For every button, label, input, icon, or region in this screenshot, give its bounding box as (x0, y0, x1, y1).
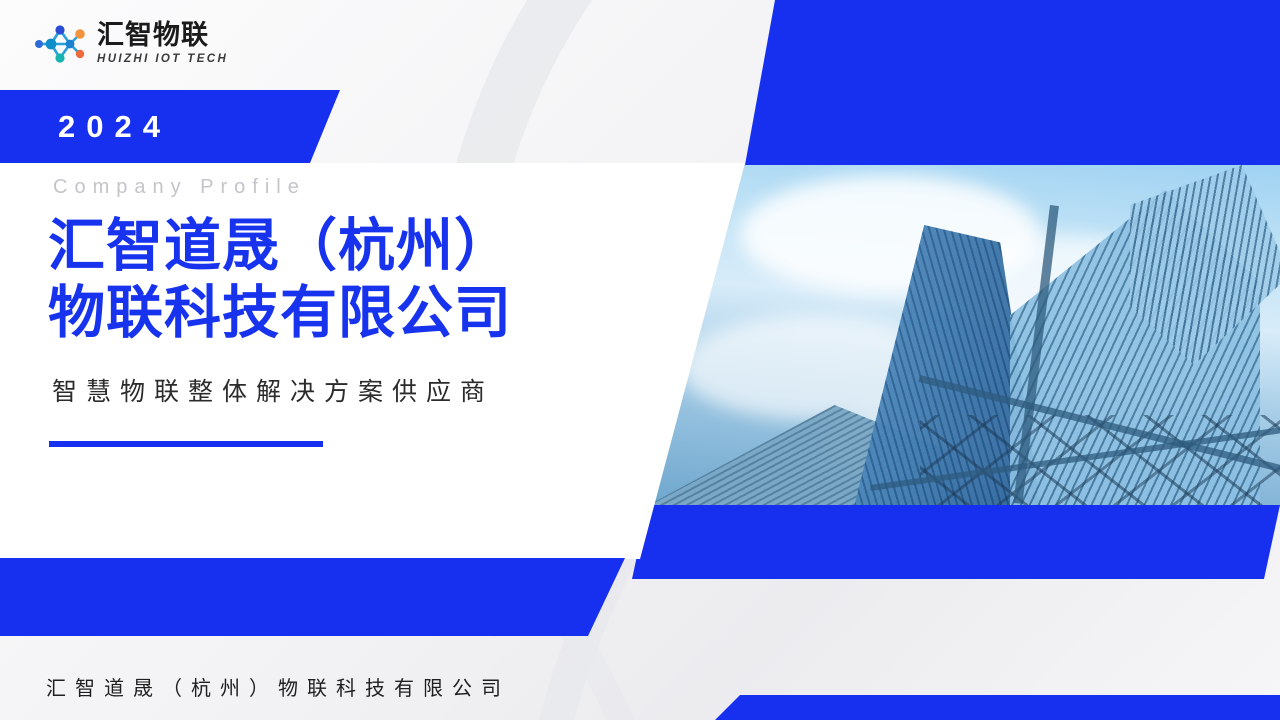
year-banner: 2024 (0, 90, 340, 163)
title-line-2: 物联科技有限公司 (48, 280, 512, 346)
year-label: 2024 (58, 109, 171, 145)
cover-slide: 2024 汇智物联 HUIZHI IOT TECH (0, 0, 1280, 720)
slogan-text: 智慧物联整体解决方案供应商 (52, 372, 708, 408)
blue-shape-bottom-right (715, 695, 1280, 720)
glass-truss-lattice (920, 415, 1280, 505)
title-line-1: 汇智道晟（杭州） (48, 213, 512, 279)
molecule-network-icon (30, 20, 88, 68)
title-block: Company Profile 汇智道晟（杭州） 物联科技有限公司 智慧物联整体… (48, 176, 708, 447)
footer-company-name: 汇智道晟（杭州）物联科技有限公司 (46, 672, 510, 701)
eyebrow-label: Company Profile (53, 176, 708, 199)
blue-shape-bottom-left (0, 558, 625, 636)
blue-shape-top-right (745, 0, 1280, 165)
logo-english-name: HUIZHI IOT TECH (97, 54, 228, 66)
blue-shape-mid-right (632, 505, 1280, 579)
page-title: 汇智道晟（杭州） 物联科技有限公司 (48, 213, 708, 346)
company-logo[interactable]: 汇智物联 HUIZHI IOT TECH (30, 20, 228, 68)
accent-rule (49, 441, 323, 447)
logo-chinese-name: 汇智物联 (97, 22, 228, 49)
